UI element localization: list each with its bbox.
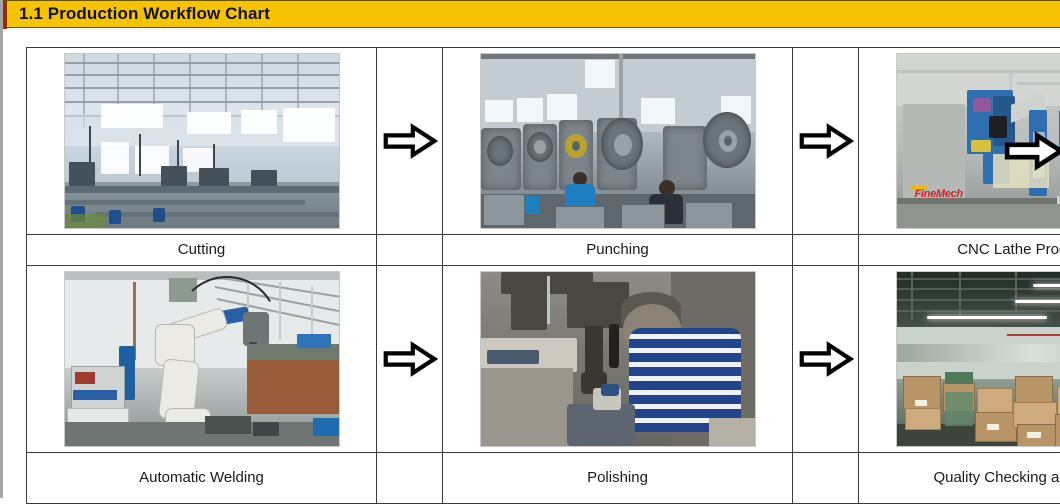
workflow-step-caption: Punching — [443, 239, 792, 261]
workflow-arrow-spacer-3 — [377, 453, 443, 504]
workflow-step-caption-cell-5: Polishing — [443, 453, 793, 504]
workflow-arrow-cell-1 — [377, 48, 443, 235]
workflow-arrow-spacer-1 — [377, 235, 443, 266]
workflow-step-caption: Cutting — [27, 239, 376, 261]
workflow-step-caption-cell-4: Automatic Welding — [27, 453, 377, 504]
table-row: Automatic Welding Polishing Quality Chec… — [27, 453, 1060, 504]
workflow-step-caption: Automatic Welding — [27, 467, 376, 489]
section-header-bar: 1.1 Production Workflow Chart — [3, 0, 1060, 28]
photo-punching — [481, 54, 755, 228]
workflow-step-caption-cell-3: CNC Lathe Processing — [859, 235, 1060, 266]
right-arrow-icon — [1003, 130, 1060, 172]
workflow-step-caption-cell-1: Cutting — [27, 235, 377, 266]
workflow-step-caption: Quality Checking and Packing — [915, 467, 1060, 489]
workflow-step-caption: CNC Lathe Processing — [859, 239, 1060, 261]
workflow-step-photo-cell-2 — [443, 48, 793, 235]
workflow-arrow-spacer-2 — [793, 235, 859, 266]
document-page: 1.1 Production Workflow Chart — [0, 0, 1060, 498]
table-row: Cutting Punching CNC Lathe Processing — [27, 235, 1060, 266]
page-title: 1.1 Production Workflow Chart — [19, 4, 270, 24]
workflow-step-photo-cell-1 — [27, 48, 377, 235]
header-accent-stripe — [3, 1, 7, 29]
right-arrow-icon — [382, 122, 438, 160]
workflow-step-caption: Polishing — [443, 467, 792, 489]
photo-cutting — [65, 54, 339, 228]
workflow-step-caption-cell-6: Quality Checking and Packing — [859, 453, 1060, 504]
workflow-arrow-cell-2 — [793, 48, 859, 235]
workflow-arrow-spacer-4 — [793, 453, 859, 504]
workflow-step-photo-cell-6 — [859, 266, 1060, 453]
right-arrow-icon — [382, 340, 438, 378]
cnc-brand-logo: FineMech — [915, 188, 963, 200]
workflow-arrow-cell-3 — [377, 266, 443, 453]
workflow-arrow-trailing — [1003, 130, 1060, 172]
workflow-step-caption-cell-2: Punching — [443, 235, 793, 266]
photo-polishing — [481, 272, 755, 446]
workflow-step-photo-cell-4 — [27, 266, 377, 453]
table-row: FineMech — [27, 48, 1060, 235]
workflow-arrow-cell-4 — [793, 266, 859, 453]
table-row — [27, 266, 1060, 453]
workflow-step-photo-cell-5 — [443, 266, 793, 453]
right-arrow-icon — [798, 122, 854, 160]
workflow-table: FineMech Cutting Punching CNC Lathe Pro — [26, 47, 1060, 504]
right-arrow-icon — [798, 340, 854, 378]
photo-quality-checking-packing — [897, 272, 1060, 446]
photo-automatic-welding — [65, 272, 339, 446]
